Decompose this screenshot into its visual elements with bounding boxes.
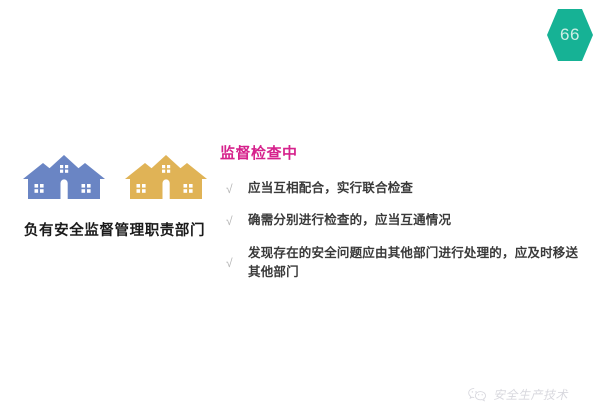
house-icon-gold — [123, 152, 209, 202]
content-block: 监督检查中 √ 应当互相配合，实行联合检查 √ 确需分别进行检查的，应当互通情况… — [218, 142, 590, 296]
house-icon-blue — [21, 152, 107, 202]
footer-watermark: 安全生产技术 — [468, 386, 568, 403]
page-number-label: 66 — [546, 8, 594, 62]
checkmark-icon: √ — [218, 180, 248, 198]
list-item-label: 确需分别进行检查的，应当互通情况 — [248, 211, 590, 230]
checkmark-icon: √ — [218, 212, 248, 230]
section-title: 监督检查中 — [220, 142, 590, 163]
list-item-label: 应当互相配合，实行联合检查 — [248, 179, 590, 198]
house-icon-group — [12, 140, 217, 202]
left-illustration-block: 负有安全监督管理职责部门 — [12, 140, 217, 240]
page-number-badge: 66 — [546, 8, 594, 62]
watermark-label: 安全生产技术 — [493, 386, 568, 403]
list-item: √ 应当互相配合，实行联合检查 — [218, 179, 590, 198]
bullet-list: √ 应当互相配合，实行联合检查 √ 确需分别进行检查的，应当互通情况 √ 发现存… — [218, 179, 590, 283]
list-item: √ 发现存在的安全问题应由其他部门进行处理的，应及时移送其他部门 — [218, 244, 590, 283]
checkmark-icon: √ — [218, 254, 248, 272]
list-item-label: 发现存在的安全问题应由其他部门进行处理的，应及时移送其他部门 — [248, 244, 590, 283]
list-item: √ 确需分别进行检查的，应当互通情况 — [218, 211, 590, 230]
wechat-icon — [468, 387, 487, 403]
left-caption-label: 负有安全监督管理职责部门 — [12, 219, 217, 240]
